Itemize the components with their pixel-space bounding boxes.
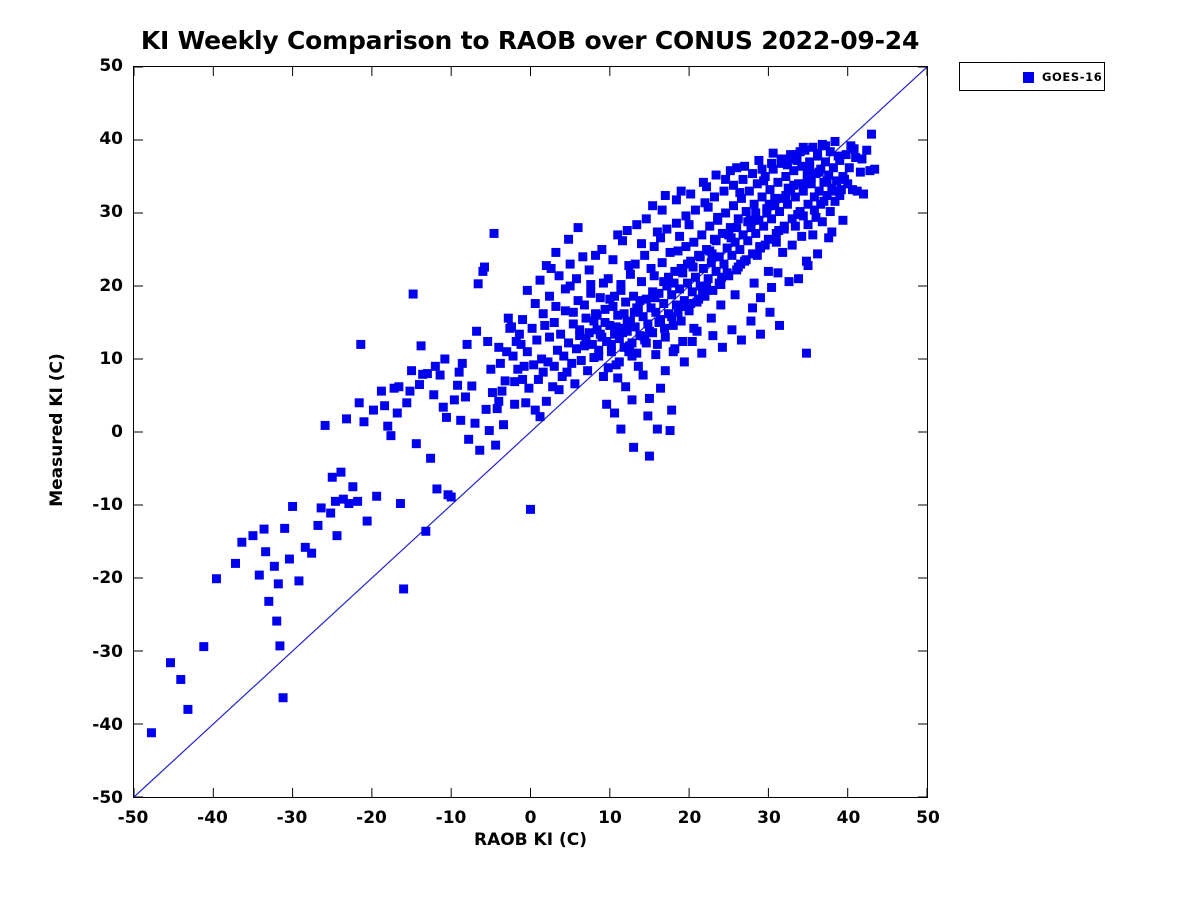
y-tick-label: 40 — [77, 129, 123, 149]
y-tick-label: 30 — [77, 202, 123, 222]
x-tick-label: 0 — [501, 808, 561, 828]
scatter-plot-canvas — [134, 67, 927, 797]
y-tick-label: -30 — [77, 642, 123, 662]
x-tick-label: -30 — [262, 808, 322, 828]
y-tick-label: -20 — [77, 568, 123, 588]
legend-label-goes16: GOES-16 — [1042, 70, 1102, 84]
y-tick-label: -50 — [77, 788, 123, 808]
y-tick-label: 20 — [77, 276, 123, 296]
chart-title: KI Weekly Comparison to RAOB over CONUS … — [0, 26, 1060, 55]
x-tick-label: -40 — [183, 808, 243, 828]
x-tick-label: 50 — [898, 808, 958, 828]
x-axis-title: RAOB KI (C) — [133, 830, 928, 850]
x-tick-label: 30 — [739, 808, 799, 828]
y-axis-title: Measured KI (C) — [47, 330, 67, 530]
y-tick-label: -10 — [77, 495, 123, 515]
y-tick-label: 50 — [77, 56, 123, 76]
legend: GOES-16 — [959, 62, 1105, 91]
x-tick-label: -50 — [103, 808, 163, 828]
x-tick-label: 40 — [819, 808, 879, 828]
x-tick-label: 20 — [660, 808, 720, 828]
x-tick-label: 10 — [580, 808, 640, 828]
y-tick-label: -40 — [77, 715, 123, 735]
y-tick-label: 0 — [77, 422, 123, 442]
x-tick-label: -20 — [342, 808, 402, 828]
y-tick-label: 10 — [77, 349, 123, 369]
legend-swatch-goes16 — [1023, 72, 1034, 83]
x-tick-label: -10 — [421, 808, 481, 828]
plot-area — [133, 66, 928, 798]
